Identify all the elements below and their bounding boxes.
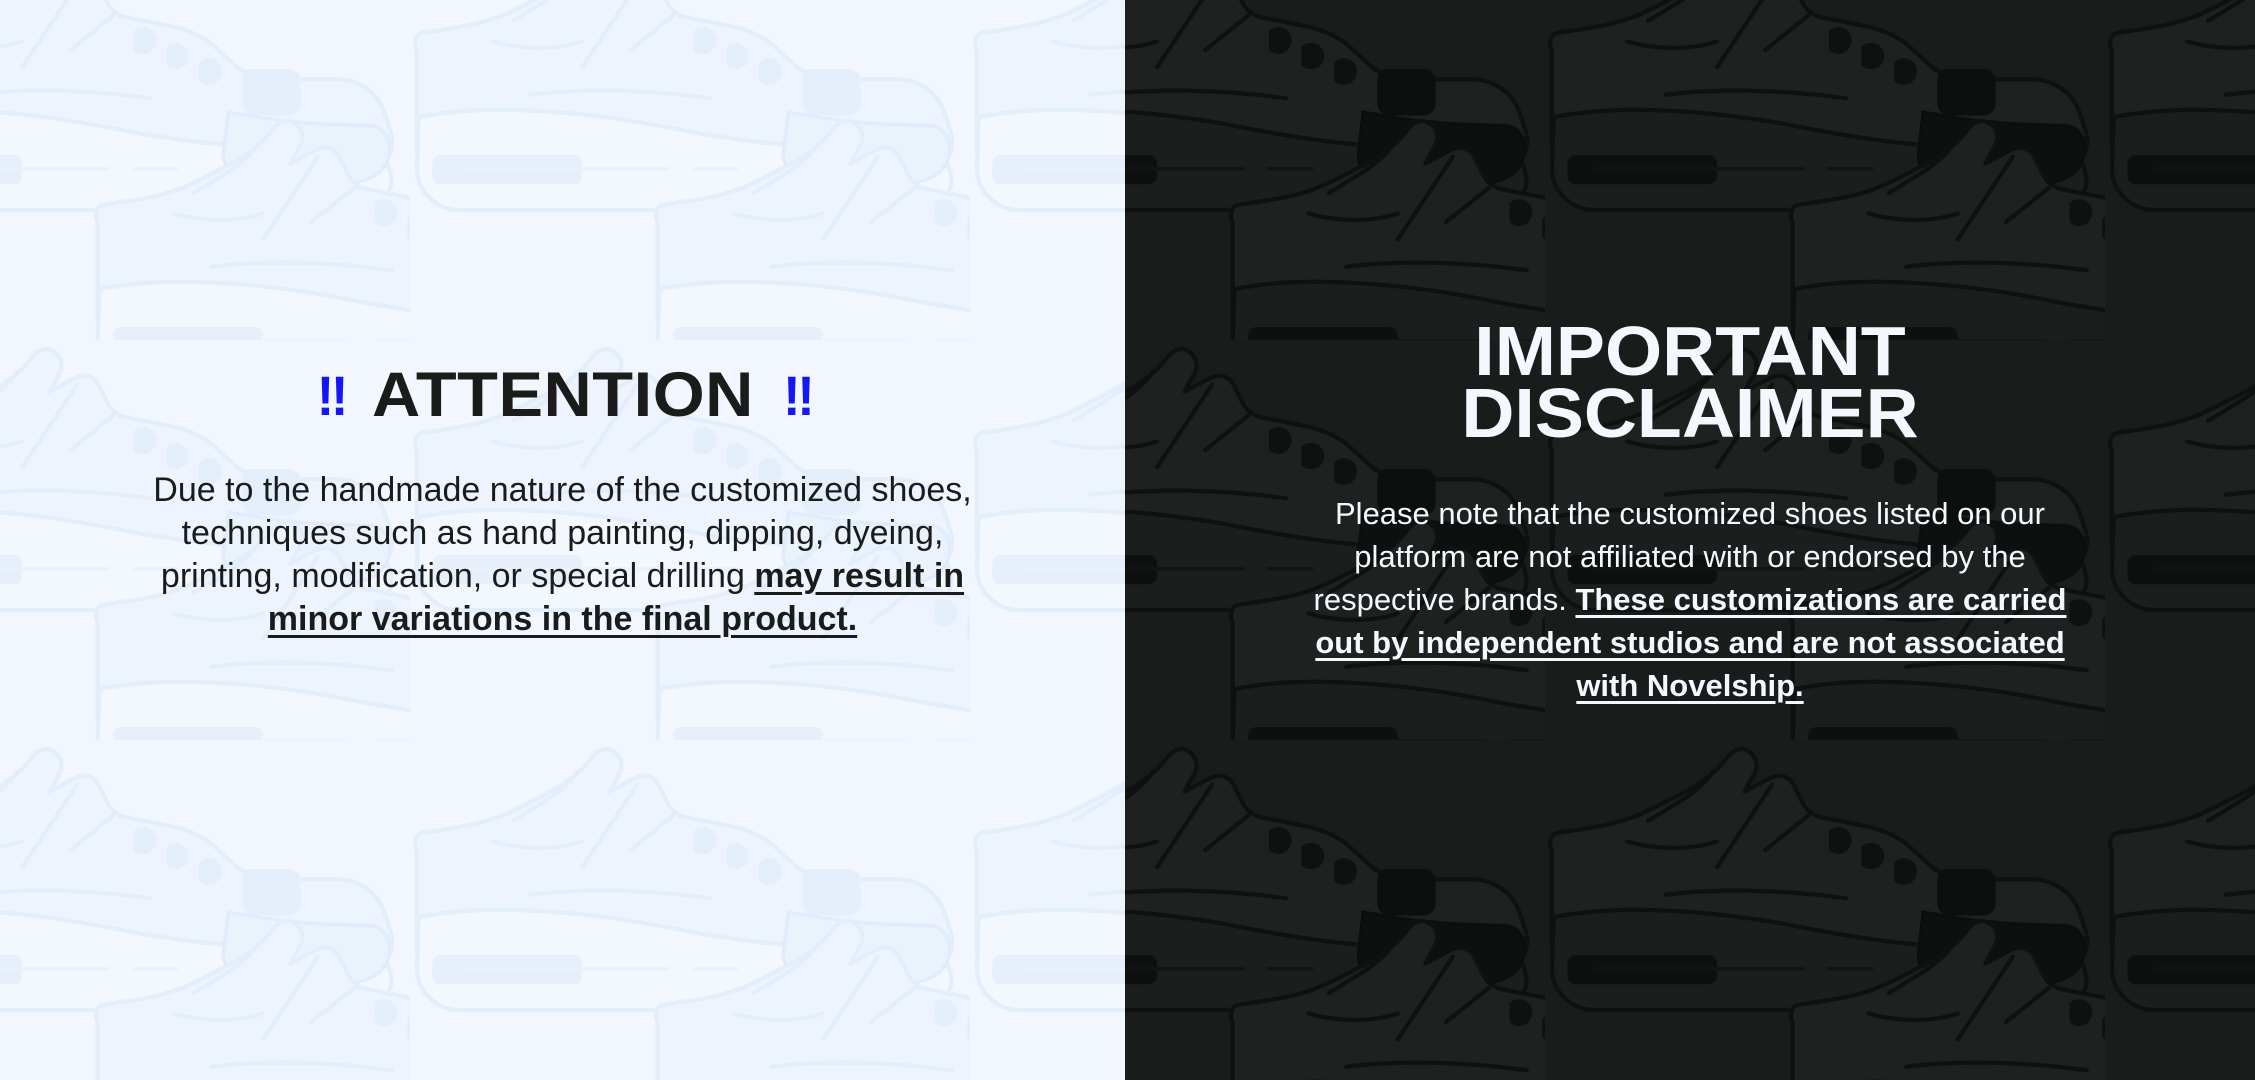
attention-heading: ‼ ATTENTION ‼: [314, 364, 810, 427]
double-exclamation-left-icon: ‼: [316, 368, 342, 424]
attention-body: Due to the handmade nature of the custom…: [153, 469, 973, 641]
disclaimer-banner: ‼ ATTENTION ‼ Due to the handmade nature…: [0, 0, 2255, 1080]
disclaimer-body: Please note that the customized shoes li…: [1290, 492, 2090, 707]
attention-heading-text: ATTENTION: [372, 364, 754, 427]
disclaimer-heading-line1: IMPORTANT: [1291, 320, 2089, 382]
disclaimer-heading: IMPORTANT DISCLAIMER: [1291, 320, 2089, 444]
attention-panel: ‼ ATTENTION ‼ Due to the handmade nature…: [0, 0, 1125, 1080]
disclaimer-heading-line2: DISCLAIMER: [1291, 382, 2089, 444]
disclaimer-panel: IMPORTANT DISCLAIMER Please note that th…: [1125, 0, 2255, 1080]
double-exclamation-right-icon: ‼: [783, 368, 809, 424]
